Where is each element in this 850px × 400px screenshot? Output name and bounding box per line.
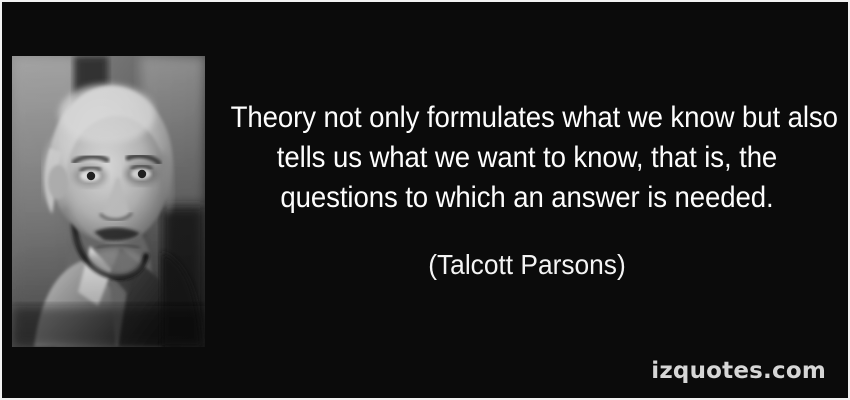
- quote-image-card: Theory not only formulates what we know …: [0, 0, 850, 400]
- quote-line-2: tells us what we want to know, that is, …: [231, 138, 824, 178]
- portrait-photo-image: [12, 56, 205, 347]
- author-portrait: [12, 56, 205, 347]
- quote-text: Theory not only formulates what we know …: [231, 98, 824, 218]
- site-watermark: izquotes.com: [651, 358, 826, 384]
- quote-line-3: questions to which an answer is needed.: [231, 178, 824, 218]
- quote-line-1: Theory not only formulates what we know …: [231, 98, 824, 138]
- quote-attribution: (Talcott Parsons): [229, 248, 825, 282]
